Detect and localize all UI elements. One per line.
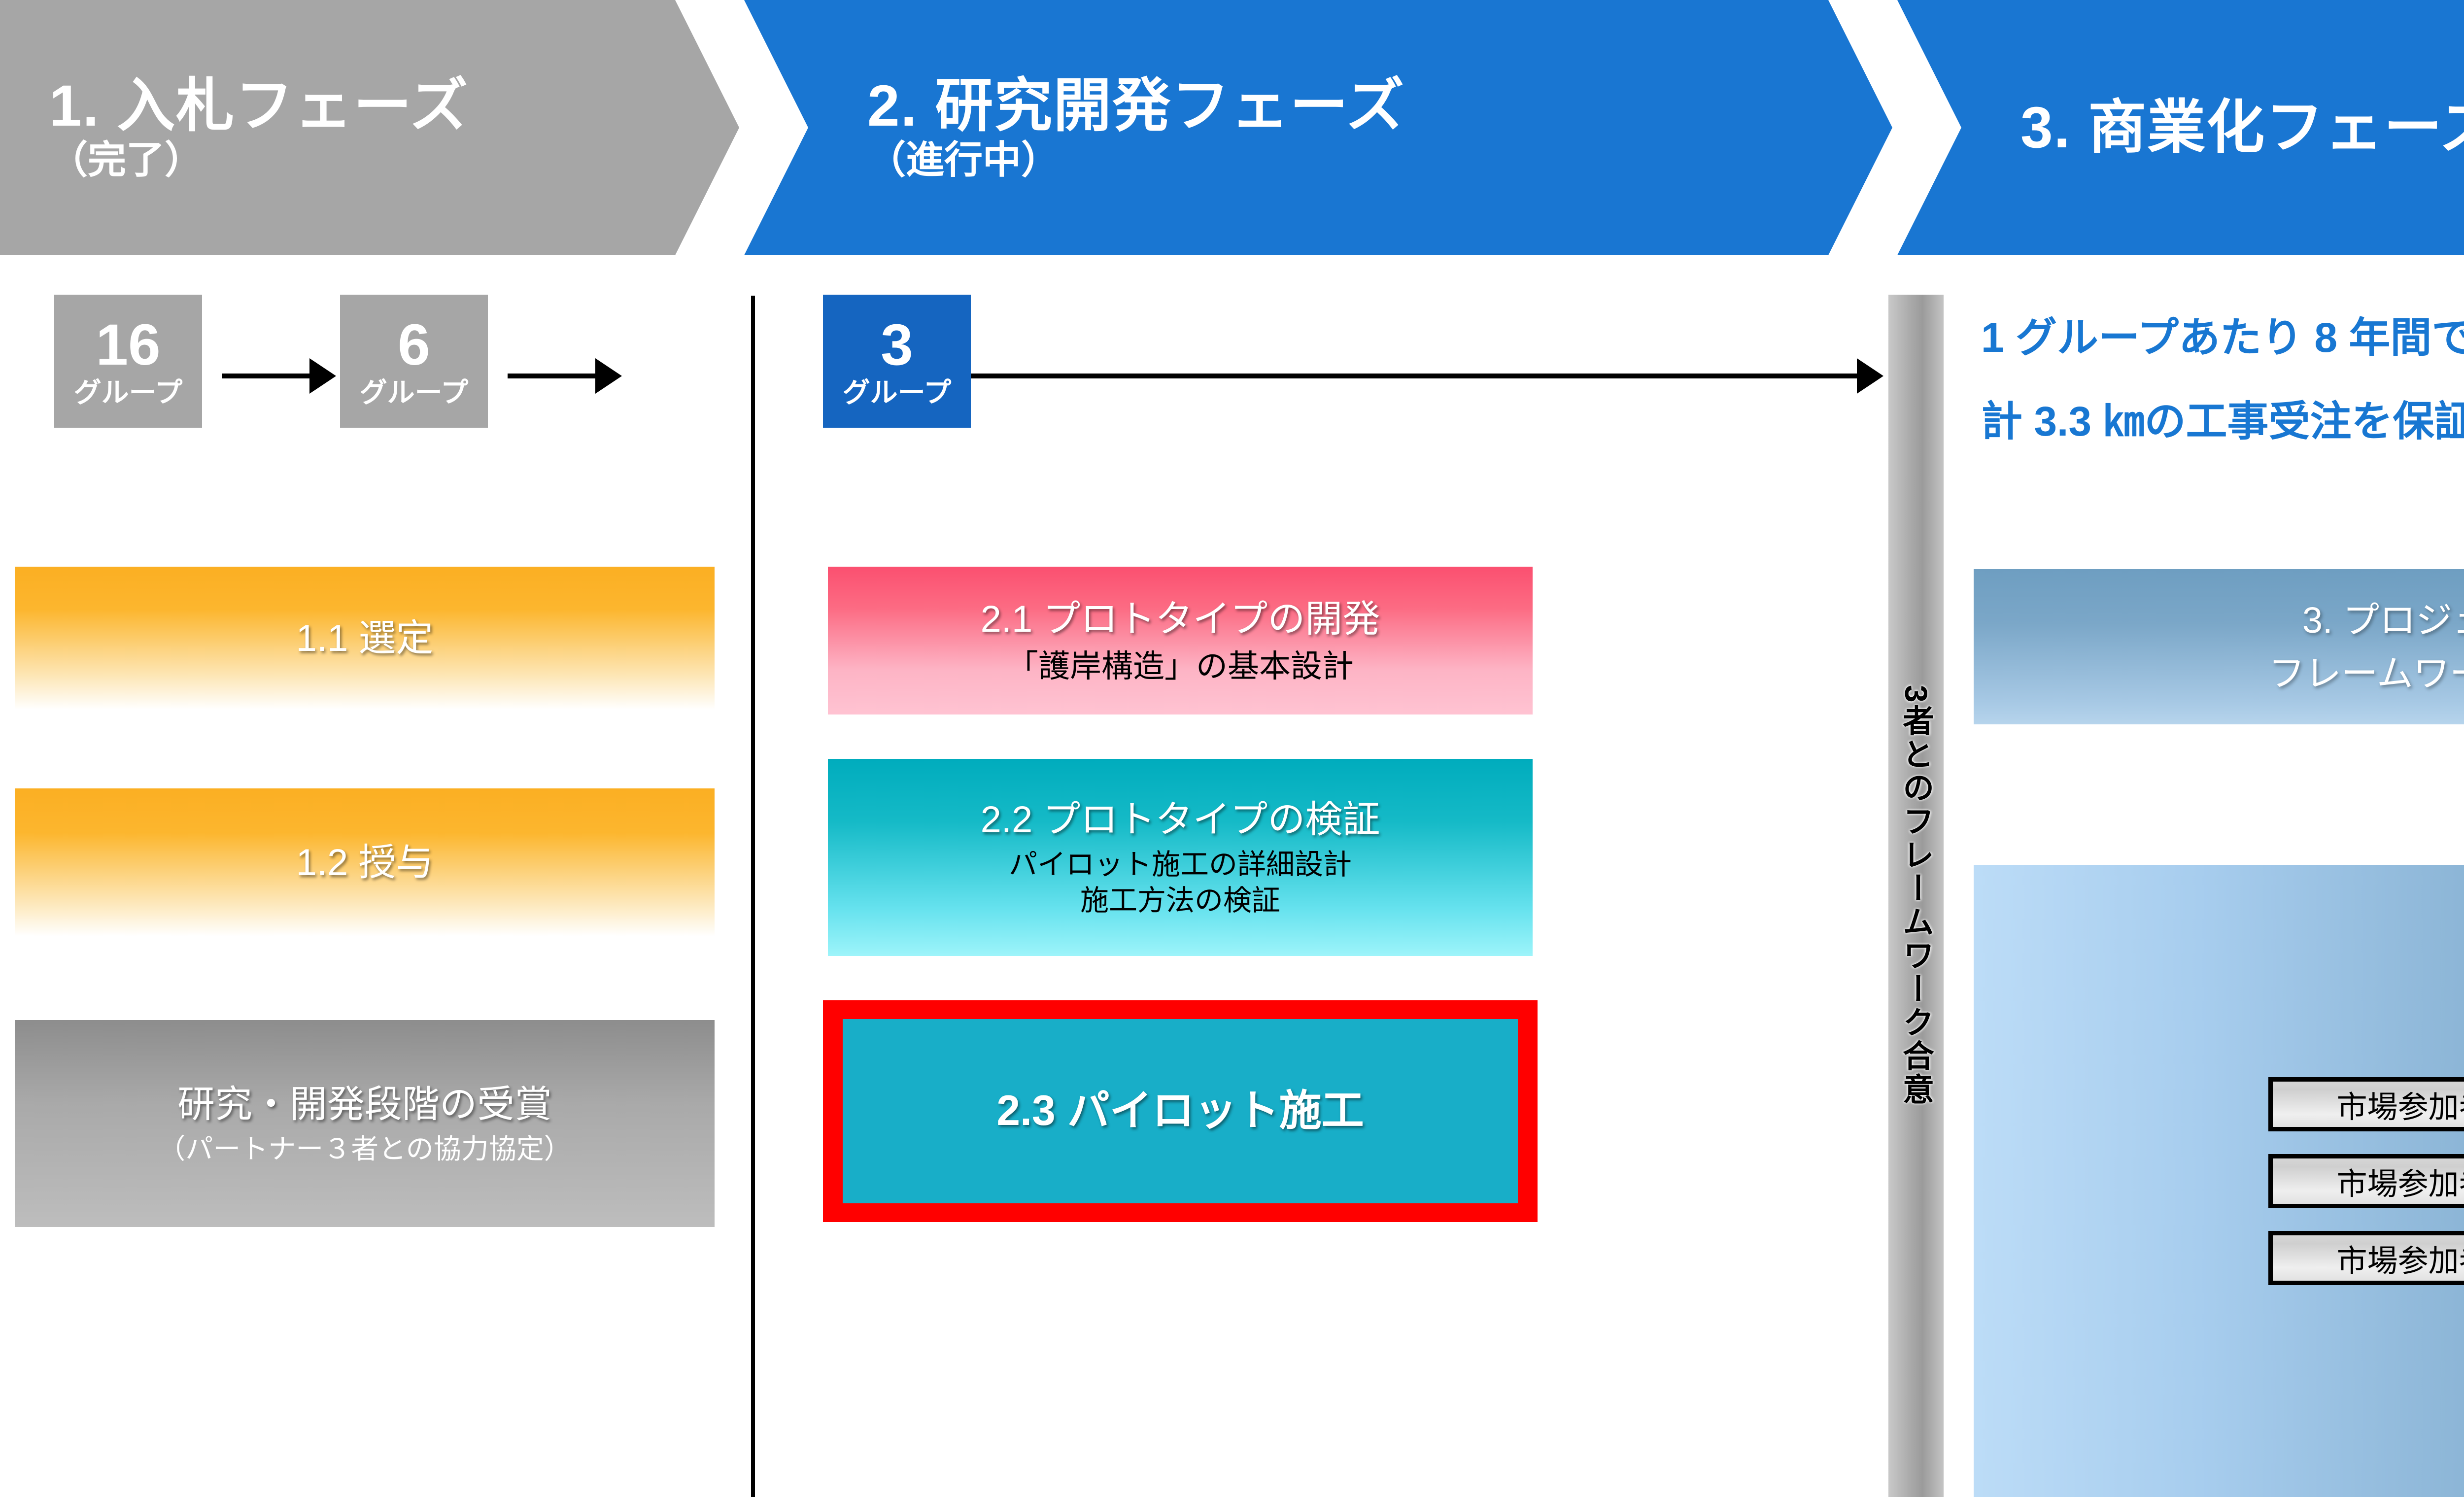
card-2-1-title: 2.1 プロトタイプの開発: [981, 596, 1380, 643]
card-2-1-subtitle: 「護岸構造」の基本設計: [1007, 646, 1354, 686]
framework-agreement-line-2: フレームワーク合意: [2268, 647, 2464, 700]
funnel-arrow-1: [222, 374, 310, 378]
diagram-canvas: 1. 入札フェーズ （完了） 2. 研究開発フェーズ （進行中） 3. 商業化フ…: [0, 0, 2464, 1497]
market-participant-1-label: 市場参加者 1: [2337, 1082, 2464, 1126]
group-box-6-number: 6: [398, 316, 430, 374]
phase-banner-2[interactable]: 2. 研究開発フェーズ （進行中）: [744, 0, 1892, 255]
phase-banner-1-subtitle: （完了）: [49, 138, 469, 181]
card-1-2-title: 1.2 授与: [296, 839, 434, 886]
funnel-arrow-2: [508, 374, 596, 378]
card-2-2[interactable]: 2.2 プロトタイプの検証 パイロット施工の詳細設計 施工方法の検証: [828, 759, 1533, 956]
card-2-2-subtitle-2: 施工方法の検証: [1080, 883, 1280, 919]
column-divider-1-2: [751, 296, 755, 1497]
market-participant-3-label: 市場参加者 3: [2337, 1236, 2464, 1280]
phase-3-headline-line-2: 計 3.3 ㎞の工事受注を保証: [1981, 389, 2464, 453]
phase-banner-3-title: 3. 商業化フェーズ: [2020, 95, 2464, 160]
phase-banner-3[interactable]: 3. 商業化フェーズ: [1897, 0, 2464, 255]
phase-banner-2-title: 2. 研究開発フェーズ: [867, 73, 1405, 138]
group-box-6[interactable]: 6 グループ: [340, 295, 488, 428]
group-box-16-label: グループ: [74, 379, 183, 407]
card-2-2-title: 2.2 プロトタイプの検証: [981, 796, 1380, 843]
market-participant-3[interactable]: 市場参加者 3: [2268, 1231, 2464, 1285]
market-participant-2-label: 市場参加者 2: [2337, 1159, 2464, 1203]
card-1-award-subtitle: （パートナー３者との協力協定）: [158, 1132, 571, 1166]
market-participant-2[interactable]: 市場参加者 2: [2268, 1154, 2464, 1208]
card-1-1-title: 1.1 選定: [296, 615, 434, 662]
card-2-3[interactable]: 2.3 パイロット施工: [843, 1019, 1518, 1203]
phase-banner-2-subtitle: （進行中）: [867, 138, 1405, 181]
group-box-16[interactable]: 16 グループ: [54, 295, 202, 428]
phase-banner-1[interactable]: 1. 入札フェーズ （完了）: [0, 0, 739, 255]
card-1-award-title: 研究・開発段階の受賞: [177, 1081, 552, 1128]
phase-3-headline-line-1: 1 グループあたり 8 年間で: [1981, 306, 2464, 370]
group-box-3-number: 3: [881, 316, 913, 374]
group-box-6-label: グループ: [360, 379, 469, 407]
agreement-vertical-bar-label: 3者とのフレームワーク合意: [1893, 685, 1939, 1107]
funnel-arrow-3: [971, 374, 1858, 378]
card-1-award[interactable]: 研究・開発段階の受賞 （パートナー３者との協力協定）: [15, 1020, 715, 1227]
card-2-2-subtitle-1: パイロット施工の詳細設計: [1009, 847, 1352, 883]
card-2-3-title: 2.3 パイロット施工: [996, 1085, 1364, 1138]
card-2-1[interactable]: 2.1 プロトタイプの開発 「護岸構造」の基本設計: [828, 567, 1533, 714]
group-box-3-label: グループ: [843, 379, 952, 407]
framework-agreement-line-1: 3. プロジェクト: [2302, 594, 2464, 646]
framework-agreement-box[interactable]: 3. プロジェクト フレームワーク合意: [1974, 569, 2464, 724]
agreement-vertical-bar[interactable]: 3者とのフレームワーク合意: [1888, 295, 1944, 1497]
market-participants-panel: 市場参加者 1 市場参加者 2 市場参加者 3: [1974, 865, 2464, 1497]
group-box-3[interactable]: 3 グループ: [823, 295, 971, 428]
card-1-2[interactable]: 1.2 授与: [15, 788, 715, 936]
phase-banner-1-title: 1. 入札フェーズ: [49, 73, 469, 138]
market-participant-1[interactable]: 市場参加者 1: [2268, 1077, 2464, 1131]
card-1-1[interactable]: 1.1 選定: [15, 567, 715, 710]
group-box-16-number: 16: [96, 316, 160, 374]
